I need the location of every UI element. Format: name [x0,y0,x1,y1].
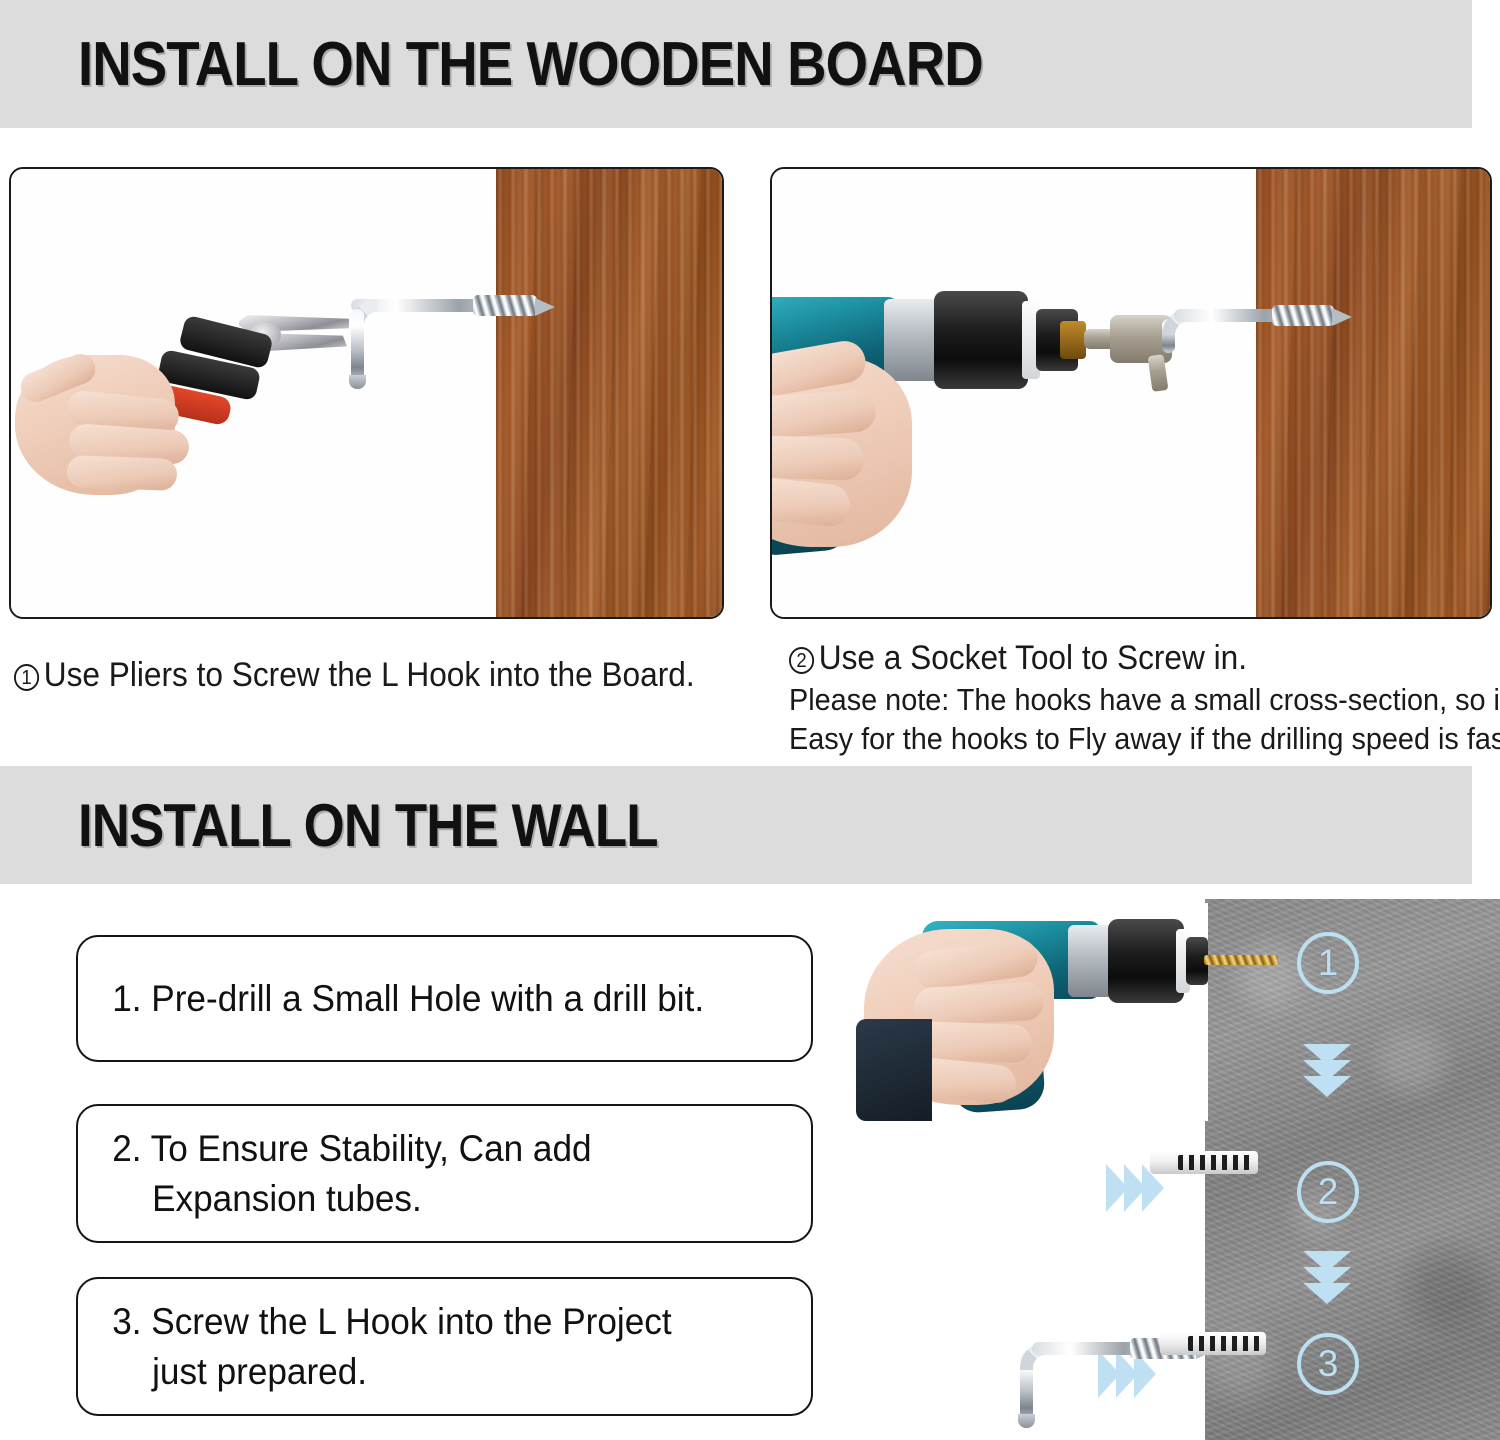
wall-step-box-3: 3. Screw the L Hook into the Project jus… [76,1277,813,1416]
chevron-down-icon [1303,1076,1351,1097]
l-hook-leg [351,309,364,384]
wall-marker-1: 1 [1297,932,1359,994]
sleeve [856,1019,932,1121]
chevron-down-triple-icon [1303,1251,1351,1299]
wall-step-2-line-2: Expansion tubes. [112,1174,591,1223]
caption-step-1-text: Use Pliers to Screw the L Hook into the … [44,656,695,694]
photo-drill-predrilling [890,903,1208,1121]
expansion-anchor-left-part-step3 [1160,1332,1266,1355]
expansion-anchor-left-part [1150,1151,1258,1174]
wooden-board-slab [496,167,724,619]
caption-step-2-note-line-1: Please note: The hooks have a small cros… [789,680,1500,719]
hand-finger-3 [66,455,177,491]
caption-step-2-note-line-2: Easy for the hooks to Fly away if the dr… [789,719,1500,758]
section-header-wooden-board: INSTALL ON THE WOODEN BOARD [0,0,1472,128]
l-hook-thread [1272,305,1334,326]
drill-chuck-clutch [1108,919,1184,1003]
chevron-down-triple-icon [1303,1044,1351,1092]
section-title-wooden-board: INSTALL ON THE WOODEN BOARD [78,29,983,100]
circled-number-icon: 2 [789,647,814,674]
drill-bit [1204,955,1278,965]
wall-step-3-number: 3. [112,1301,141,1342]
l-hook-tip [535,298,555,316]
wall-step-3-line-2: just prepared. [112,1347,671,1396]
drill-chuck-clutch [934,291,1028,389]
wall-step-2-text: 2. To Ensure Stability, Can add Expansio… [78,1124,592,1222]
section-header-wall: INSTALL ON THE WALL [0,766,1472,884]
l-hook-thread [473,295,537,316]
l-hook-tip [1332,308,1352,326]
l-hook-foot-wall [1018,1414,1035,1428]
wall-step-3-text: 3. Screw the L Hook into the Project jus… [78,1297,672,1395]
wall-marker-3: 3 [1297,1333,1359,1395]
wall-step-2-number: 2. [112,1128,141,1169]
wall-marker-2: 2 [1297,1161,1359,1223]
wall-step-1-number: 1. [112,978,141,1019]
chevron-down-icon [1303,1283,1351,1304]
wall-step-box-1: 1. Pre-drill a Small Hole with a drill b… [76,935,813,1062]
caption-step-2: 2Use a Socket Tool to Screw in. Please n… [789,637,1500,758]
caption-step-2-text: Use a Socket Tool to Screw in. [819,639,1247,677]
infographic-page: INSTALL ON THE WOODEN BOARD [0,0,1500,1440]
wall-step-3-line-1: Screw the L Hook into the Project [151,1301,671,1342]
photo-pliers-installing-hook [9,167,724,619]
hand-finger-2 [913,982,1045,1027]
wall-step-1-text: 1. Pre-drill a Small Hole with a drill b… [78,974,704,1023]
section-title-wall: INSTALL ON THE WALL [78,791,658,860]
wall-step-2-line-1: To Ensure Stability, Can add [151,1128,592,1169]
photo-drill-socket-installing-hook [770,167,1492,619]
wall-step-1-line-1: Pre-drill a Small Hole with a drill bit. [151,978,704,1019]
wooden-board-slab [1256,167,1492,619]
hand-finger-3 [770,435,865,481]
drill-chuck-collet [1060,321,1086,359]
wall-step-box-2: 2. To Ensure Stability, Can add Expansio… [76,1104,813,1243]
drill-collar [884,299,940,381]
circled-number-icon: 1 [14,664,39,691]
caption-step-1: 1Use Pliers to Screw the L Hook into the… [14,654,695,697]
